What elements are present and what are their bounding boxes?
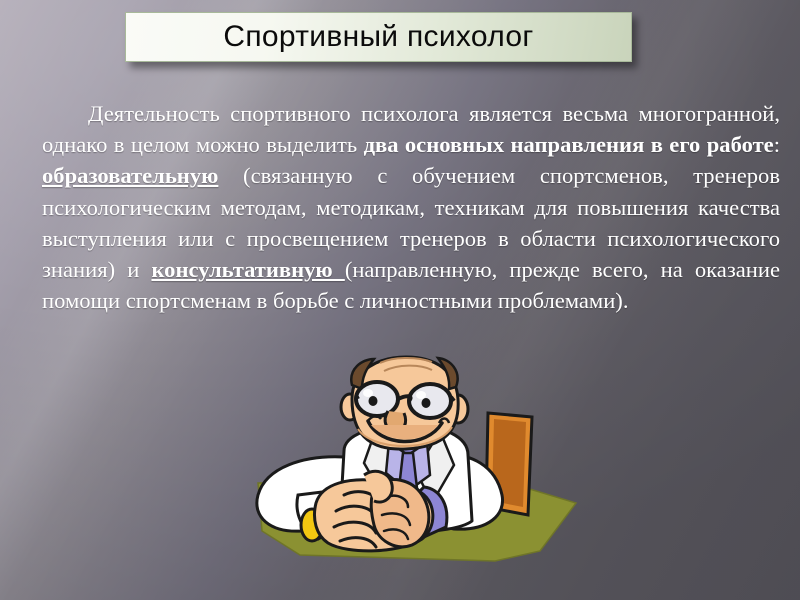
cartoon-psychologist-illustration (240, 355, 580, 600)
body-paragraph: Деятельность спортивного психолога являе… (42, 98, 780, 316)
run-bold-underline-consultative: консультативную (151, 257, 344, 282)
run-bold: два основных направления в его работе (364, 132, 774, 157)
title-banner: Спортивный психолог (125, 12, 632, 62)
page-title: Спортивный психолог (223, 20, 533, 54)
run-text: : (774, 132, 780, 157)
slide: Спортивный психолог Деятельность спортив… (0, 0, 800, 600)
run-bold-underline-educational: образовательную (42, 163, 218, 188)
